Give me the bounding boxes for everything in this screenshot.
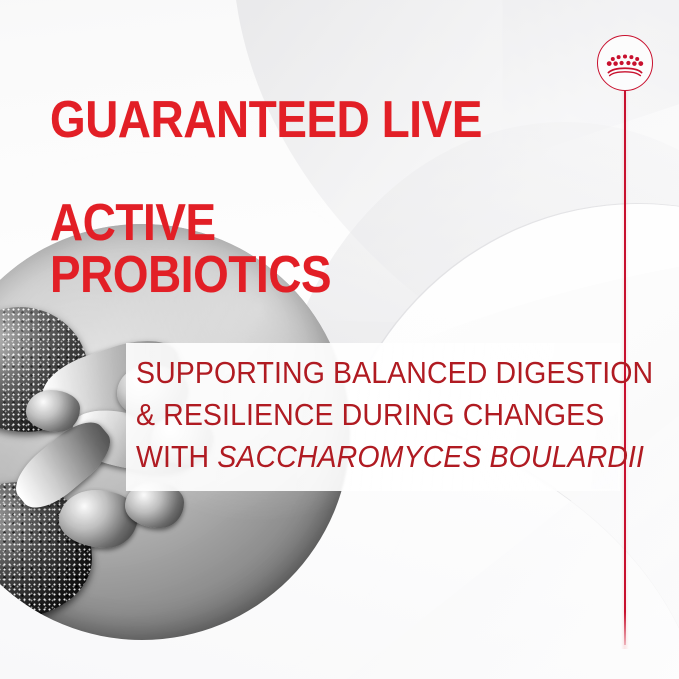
page-title: GUARANTEED LIVE ACTIVE PROBIOTICS <box>50 44 508 353</box>
body-copy-line-2: & RESILIENCE DURING CHANGES <box>136 394 596 436</box>
headline-line-1: GUARANTEED LIVE <box>50 95 508 146</box>
body-copy-line-1: SUPPORTING BALANCED DIGESTION <box>136 352 596 394</box>
headline-line-2: ACTIVE PROBIOTICS <box>50 198 508 301</box>
scientific-name: SACCHAROMYCES BOULARDII <box>217 439 644 474</box>
body-copy-line-3: WITH SACCHAROMYCES BOULARDII <box>136 436 596 478</box>
royal-canin-crown-icon <box>597 35 653 91</box>
promo-banner: GUARANTEED LIVE ACTIVE PROBIOTICS <box>0 0 679 679</box>
body-copy: SUPPORTING BALANCED DIGESTION & RESILIEN… <box>136 352 596 478</box>
body-copy-line-3-prefix: WITH <box>136 439 217 474</box>
